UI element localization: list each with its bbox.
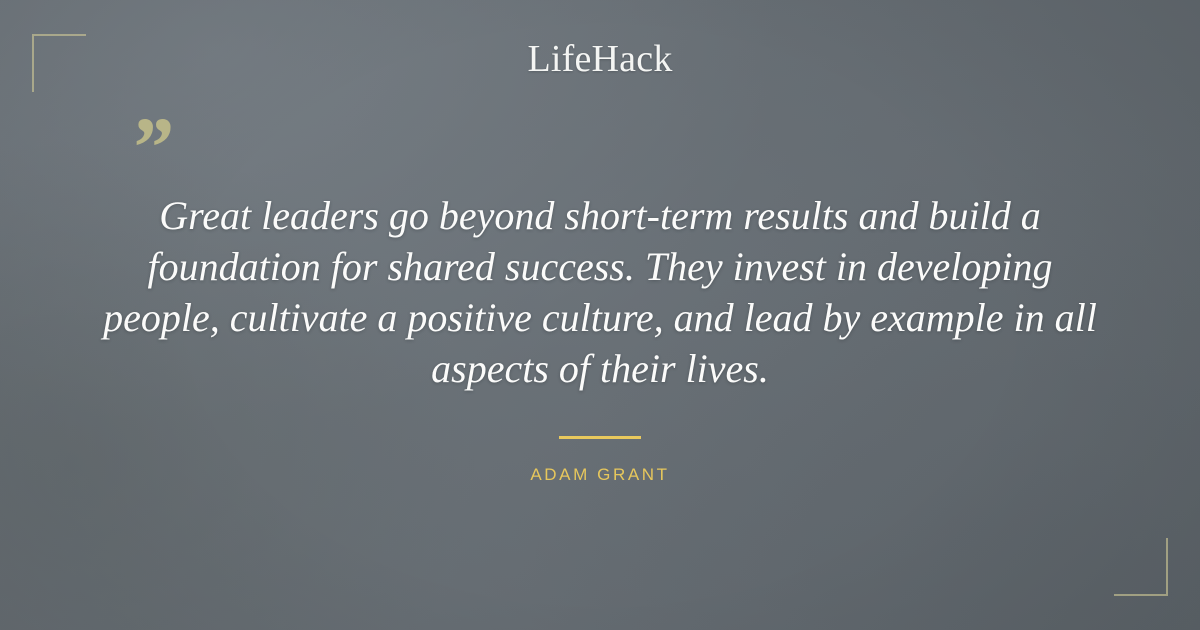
- attribution-divider: [559, 436, 641, 439]
- quote-card: LifeHack ” Great leaders go beyond short…: [0, 0, 1200, 630]
- brand-logo: LifeHack: [0, 40, 1200, 80]
- quote-text: Great leaders go beyond short-term resul…: [100, 190, 1100, 394]
- quote-mark-icon: ”: [129, 104, 172, 190]
- quote-author: ADAM GRANT: [0, 465, 1200, 485]
